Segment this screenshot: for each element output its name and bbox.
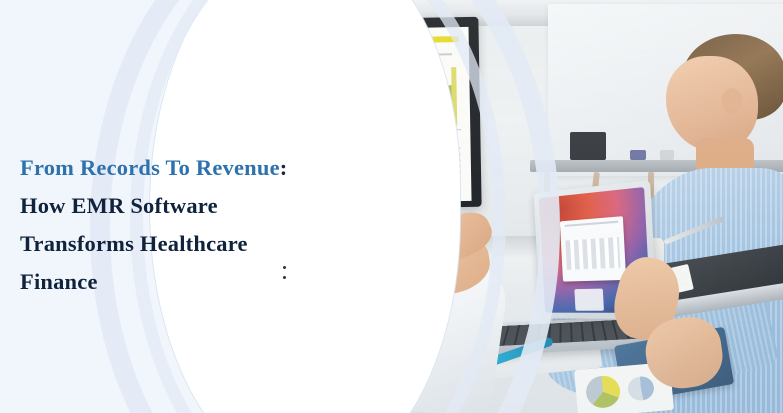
man-ear [722, 88, 742, 114]
title-line-1-text: From Records To Revenue [20, 155, 280, 180]
side-table-box [570, 132, 606, 160]
title-line-2: How EMR Software [20, 187, 310, 225]
title-line-4: Finance [20, 263, 310, 301]
page-title: From Records To Revenue: How EMR Softwar… [20, 149, 310, 301]
article-hero-banner: From Records To Revenue: How EMR Softwar… [0, 0, 783, 413]
title-line-3: Transforms Healthcare [20, 225, 310, 263]
title-line-1-colon: : [280, 155, 288, 180]
title-line-1: From Records To Revenue: [20, 149, 310, 187]
